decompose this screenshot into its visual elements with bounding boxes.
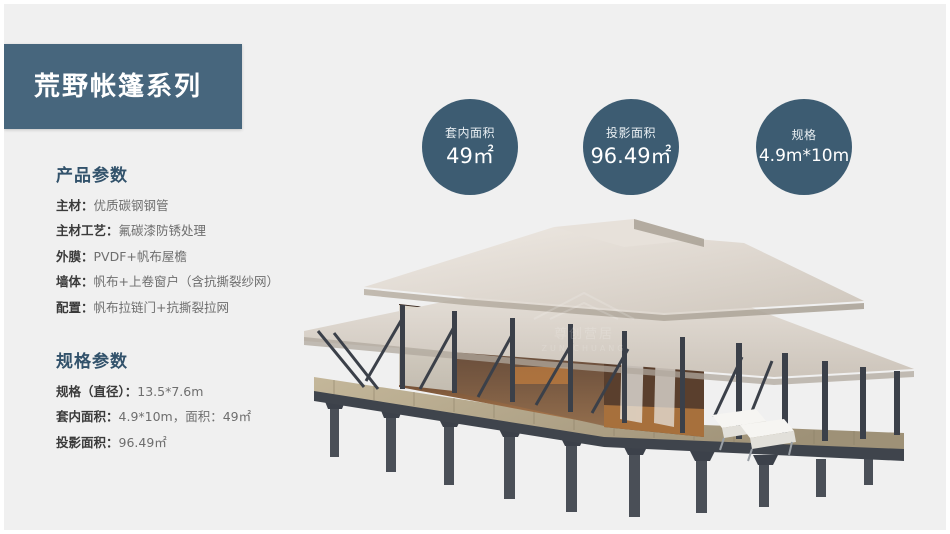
- spec-label: 墙体：: [56, 274, 94, 289]
- list-item: 配置：帆布拉链门+抗撕裂拉网: [56, 302, 346, 315]
- interior-furniture: [510, 367, 568, 384]
- stat-badge-projected-area: 投影面积 96.49㎡: [583, 99, 679, 195]
- spec-value: PVDF+帆布屋檐: [94, 249, 187, 264]
- spec-value: 4.9*10m，面积：49㎡: [119, 409, 252, 424]
- badge-value: 96.49㎡: [590, 146, 671, 167]
- spec-value: 13.5*7.6m: [137, 384, 203, 399]
- list-item: 投影面积：96.49㎡: [56, 437, 346, 450]
- spec-value: 优质碳钢钢管: [94, 198, 169, 213]
- page-title: 荒野帐篷系列: [4, 74, 202, 100]
- slide-page: 荒野帐篷系列 产品参数 主材：优质碳钢钢管 主材工艺：氟碳漆防锈处理 外膜：PV…: [0, 0, 950, 534]
- spec-label: 外膜：: [56, 249, 94, 264]
- spec-label: 投影面积：: [56, 435, 119, 450]
- spec-value: 帆布+上卷窗户（含抗撕裂纱网）: [94, 274, 279, 289]
- list-item: 套内面积：4.9*10m，面积：49㎡: [56, 411, 346, 424]
- spec-value: 96.49㎡: [119, 435, 167, 450]
- stat-badge-interior-area: 套内面积 49㎡: [422, 99, 518, 195]
- badge-label: 套内面积: [445, 127, 495, 139]
- spec-params-heading: 规格参数: [56, 353, 346, 372]
- spec-label: 配置：: [56, 300, 94, 315]
- specifications-panel: 产品参数 主材：优质碳钢钢管 主材工艺：氟碳漆防锈处理 外膜：PVDF+帆布屋檐…: [56, 167, 346, 462]
- product-params-list: 主材：优质碳钢钢管 主材工艺：氟碳漆防锈处理 外膜：PVDF+帆布屋檐 墙体：帆…: [56, 200, 346, 315]
- list-item: 规格（直径）：13.5*7.6m: [56, 386, 346, 399]
- product-params-heading: 产品参数: [56, 167, 346, 186]
- stat-badges-group: 套内面积 49㎡ 投影面积 96.49㎡ 规格 4.9m*10m: [422, 99, 902, 199]
- stat-badge-dimensions: 规格 4.9m*10m: [756, 99, 852, 195]
- spec-label: 规格（直径）：: [56, 384, 137, 399]
- badge-label: 规格: [791, 129, 816, 141]
- title-banner: 荒野帐篷系列: [4, 44, 242, 129]
- spec-params-list: 规格（直径）：13.5*7.6m 套内面积：4.9*10m，面积：49㎡ 投影面…: [56, 386, 346, 450]
- spec-label: 主材工艺：: [56, 223, 119, 238]
- section-divider: [56, 327, 346, 353]
- spec-value: 帆布拉链门+抗撕裂拉网: [94, 300, 229, 315]
- list-item: 主材：优质碳钢钢管: [56, 200, 346, 213]
- tent-illustration: [304, 209, 924, 529]
- list-item: 外膜：PVDF+帆布屋檐: [56, 251, 346, 264]
- badge-label: 投影面积: [606, 127, 656, 139]
- badge-value: 49㎡: [446, 146, 494, 167]
- spec-label: 套内面积：: [56, 409, 119, 424]
- list-item: 墙体：帆布+上卷窗户（含抗撕裂纱网）: [56, 276, 346, 289]
- spec-label: 主材：: [56, 198, 94, 213]
- badge-value: 4.9m*10m: [759, 148, 849, 165]
- spec-value: 氟碳漆防锈处理: [119, 223, 207, 238]
- list-item: 主材工艺：氟碳漆防锈处理: [56, 225, 346, 238]
